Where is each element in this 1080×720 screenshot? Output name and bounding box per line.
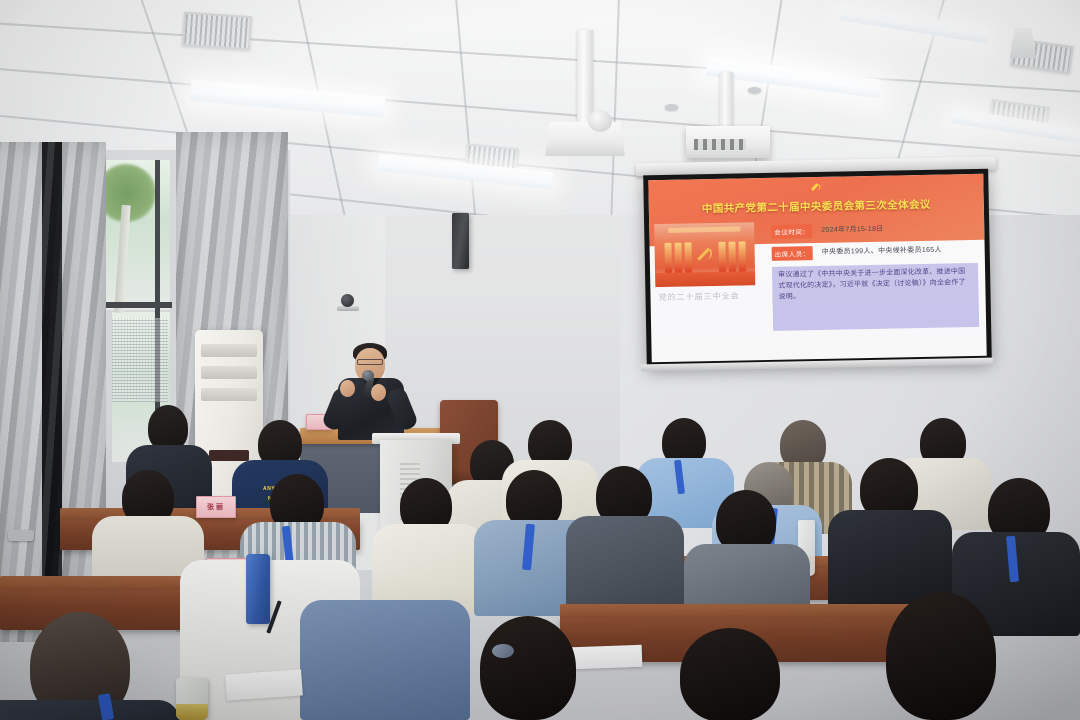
blue-water-bottle	[246, 554, 270, 624]
curtain-tieback-1	[8, 530, 34, 541]
presenter-hand-left	[340, 380, 355, 397]
attendee-head	[886, 592, 996, 720]
projector-mount-pole-right	[720, 72, 733, 134]
ceiling-light-1	[189, 80, 385, 118]
attendee-head	[680, 628, 780, 720]
video-conference-camera-icon	[334, 294, 360, 316]
smoke-detector-3	[748, 87, 761, 93]
glass-tea-jar	[176, 678, 208, 720]
eyeglasses-icon	[357, 359, 383, 365]
attendee-torso	[0, 700, 180, 720]
microphone-icon	[362, 370, 374, 381]
hvac-vent-left	[182, 12, 252, 51]
slide-label-attendees: 出席人员：	[772, 246, 813, 261]
ceiling-speaker	[1010, 28, 1036, 58]
photo-emblem-icon	[691, 241, 717, 267]
projector-mount-pole-left	[577, 30, 593, 125]
slide-value-attendees: 中央委员199人、中央候补委员165人	[822, 245, 942, 257]
ceiling-camera-unit	[545, 122, 625, 156]
slide-photo-caption: 党的二十届三中全会	[658, 291, 739, 304]
conference-room-photo: 中国共产党第二十届中央委员会第三次全体会议 党的二十届三中全会 会议时间： 20…	[0, 0, 1080, 720]
smoke-detector-2	[665, 104, 678, 110]
slide-value-time: 2024年7月15-18日	[821, 224, 883, 235]
ceiling-camera-lens	[588, 110, 612, 132]
wall-speaker-icon	[452, 213, 469, 269]
window-screen-mesh	[112, 318, 168, 402]
slide-label-time: 会议时间：	[771, 224, 812, 239]
ceiling-light-4	[840, 4, 991, 43]
projector-ports	[694, 139, 746, 150]
ac-display-panel	[209, 450, 249, 461]
note-paper	[572, 645, 643, 669]
placard-row-left: 张丽	[196, 496, 236, 518]
slide-highlight-box: 审议通过了《中共中央关于进一步全面深化改革、推进中国式现代化的决定》，习近平就《…	[772, 263, 979, 331]
attendee-head	[480, 616, 576, 720]
projection-screen: 中国共产党第二十届中央委员会第三次全体会议 党的二十届三中全会 会议时间： 20…	[643, 169, 992, 368]
hair-tie-icon	[492, 644, 514, 658]
attendee-torso	[300, 600, 470, 720]
photo-stage	[655, 271, 755, 287]
note-paper	[225, 669, 303, 700]
party-emblem-icon	[808, 181, 823, 195]
photo-banner	[668, 226, 740, 232]
slide-highlight-text: 审议通过了《中共中央关于进一步全面深化改革、推进中国式现代化的决定》，习近平就《…	[778, 267, 973, 303]
slide-content: 中国共产党第二十届中央委员会第三次全体会议 党的二十届三中全会 会议时间： 20…	[648, 174, 986, 362]
slide-photo	[654, 222, 755, 287]
presenter-hand-right	[371, 384, 386, 401]
attendee-torso	[566, 516, 684, 608]
